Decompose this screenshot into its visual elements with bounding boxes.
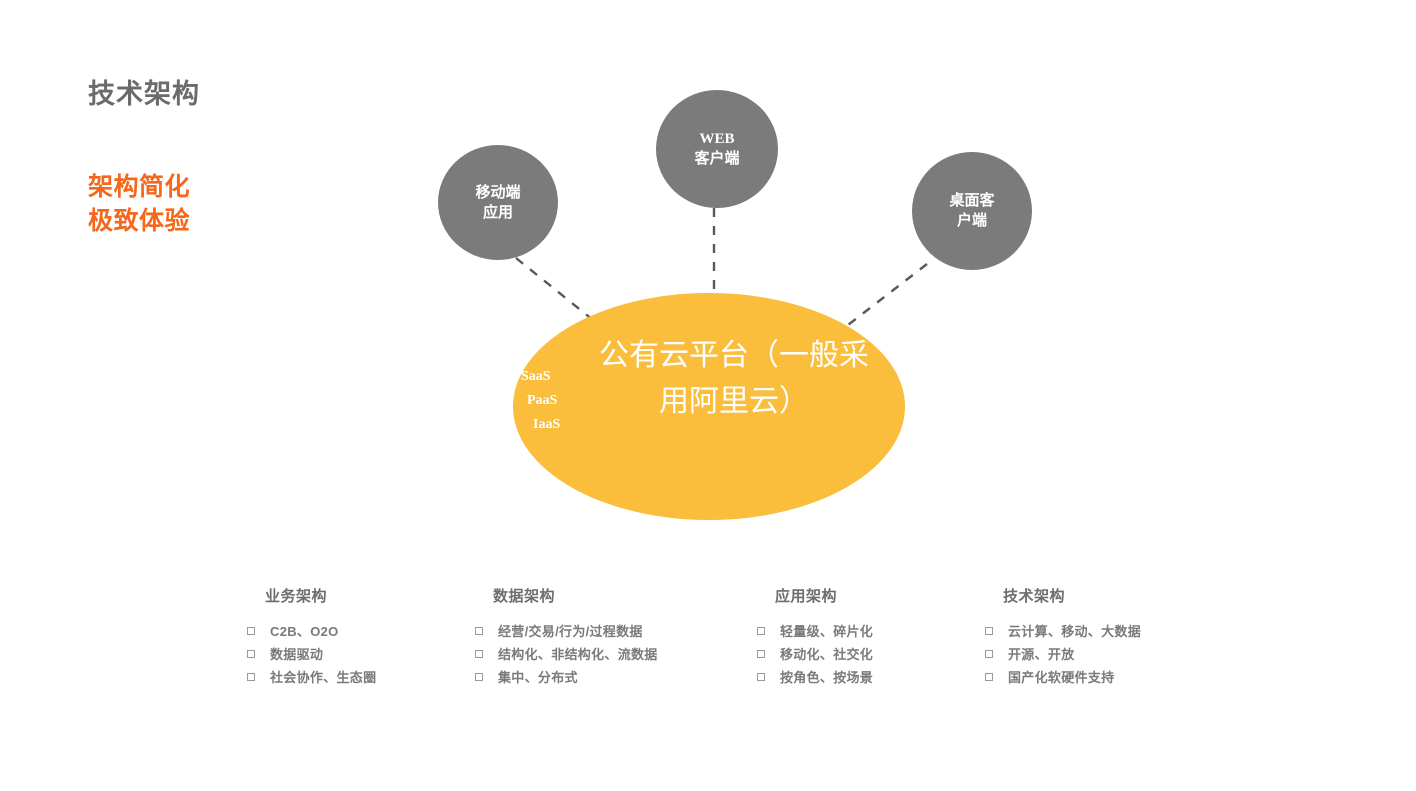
client-node-desktop-line2: 户端	[949, 211, 994, 231]
bullet-square-icon	[247, 627, 255, 635]
bullet-square-icon	[247, 650, 255, 658]
list-item-label: 结构化、非结构化、流数据	[498, 644, 658, 663]
list-item-label: 移动化、社交化	[780, 644, 873, 663]
client-node-web-line2: 客户端	[694, 149, 739, 169]
list-item: 开源、开放	[985, 642, 1141, 665]
column-header: 数据架构	[493, 585, 658, 606]
slide-canvas: 技术架构 架构简化 极致体验 移动端 应用 WEB 客户端 桌面客 户端 Saa…	[0, 0, 1416, 791]
stack-layer-iaas: IaaS	[521, 413, 597, 437]
list-item: C2B、O2O	[247, 619, 376, 642]
client-node-web-line1: WEB	[694, 129, 739, 149]
architecture-column-application: 应用架构 轻量级、碎片化 移动化、社交化 按角色、按场景	[775, 585, 873, 688]
bullet-square-icon	[757, 650, 765, 658]
list-item: 社会协作、生态圈	[247, 665, 376, 688]
list-item-label: 国产化软硬件支持	[1008, 667, 1114, 686]
bullet-square-icon	[475, 627, 483, 635]
list-item-label: 经营/交易/行为/过程数据	[498, 621, 643, 640]
architecture-column-data: 数据架构 经营/交易/行为/过程数据 结构化、非结构化、流数据 集中、分布式	[493, 585, 658, 688]
client-node-mobile-line2: 应用	[475, 203, 520, 223]
column-header: 应用架构	[775, 585, 873, 606]
list-item: 集中、分布式	[475, 665, 658, 688]
list-item-label: 轻量级、碎片化	[780, 621, 873, 640]
column-header: 技术架构	[1003, 585, 1141, 606]
stack-layer-saas: SaaS	[521, 365, 597, 389]
bullet-square-icon	[757, 673, 765, 681]
connector-desktop-to-cloud	[848, 264, 927, 325]
list-item-label: C2B、O2O	[270, 621, 339, 640]
cloud-platform-ellipse[interactable]: SaaS PaaS IaaS 公有云平台（一般采用阿里云）	[513, 293, 905, 520]
connector-mobile-to-cloud	[516, 258, 593, 320]
stack-layer-paas: PaaS	[521, 389, 597, 413]
list-item-label: 数据驱动	[270, 644, 323, 663]
bullet-square-icon	[985, 650, 993, 658]
list-item: 经营/交易/行为/过程数据	[475, 619, 658, 642]
bullet-square-icon	[757, 627, 765, 635]
list-item: 国产化软硬件支持	[985, 665, 1141, 688]
cloud-platform-label: 公有云平台（一般采用阿里云）	[599, 333, 869, 425]
column-header: 业务架构	[265, 585, 376, 606]
bullet-square-icon	[247, 673, 255, 681]
list-item: 按角色、按场景	[757, 665, 873, 688]
list-item: 移动化、社交化	[757, 642, 873, 665]
list-item: 结构化、非结构化、流数据	[475, 642, 658, 665]
list-item-label: 开源、开放	[1008, 644, 1075, 663]
bullet-square-icon	[475, 673, 483, 681]
architecture-column-business: 业务架构 C2B、O2O 数据驱动 社会协作、生态圈	[265, 585, 376, 688]
list-item-label: 集中、分布式	[498, 667, 578, 686]
architecture-column-technology: 技术架构 云计算、移动、大数据 开源、开放 国产化软硬件支持	[1003, 585, 1141, 688]
list-item-label: 云计算、移动、大数据	[1008, 621, 1141, 640]
bullet-square-icon	[985, 673, 993, 681]
list-item-label: 按角色、按场景	[780, 667, 873, 686]
bullet-square-icon	[475, 650, 483, 658]
list-item: 云计算、移动、大数据	[985, 619, 1141, 642]
list-item: 数据驱动	[247, 642, 376, 665]
client-node-desktop-line1: 桌面客	[949, 191, 994, 211]
list-item: 轻量级、碎片化	[757, 619, 873, 642]
bullet-square-icon	[985, 627, 993, 635]
client-node-mobile[interactable]: 移动端 应用	[438, 145, 558, 260]
list-item-label: 社会协作、生态圈	[270, 667, 376, 686]
client-node-desktop[interactable]: 桌面客 户端	[912, 152, 1032, 270]
client-node-mobile-line1: 移动端	[475, 183, 520, 203]
cloud-service-stack: SaaS PaaS IaaS	[521, 365, 597, 437]
client-node-web[interactable]: WEB 客户端	[656, 90, 778, 208]
